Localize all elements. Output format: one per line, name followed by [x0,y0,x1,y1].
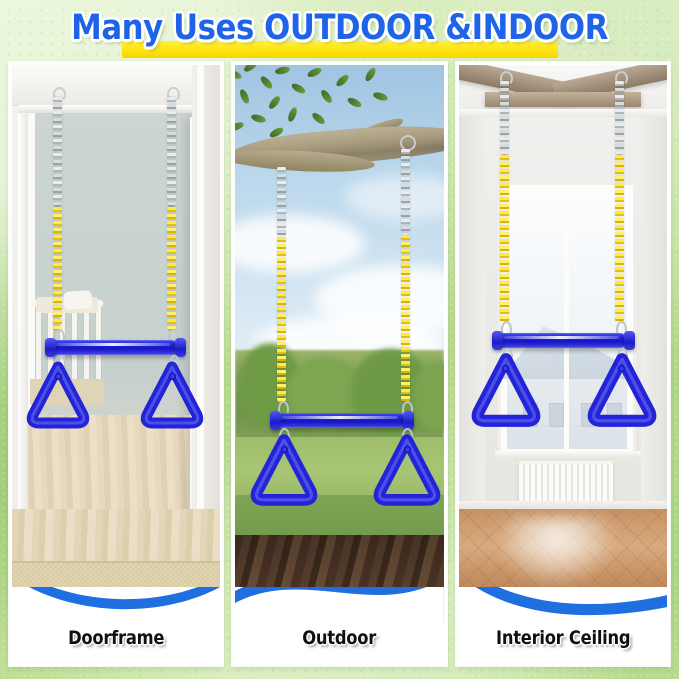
product-infographic: Many Uses OUTDOOR &INDOOR [0,0,679,679]
crib-slat [48,305,53,383]
door-lintel [18,105,218,113]
building-window [607,403,622,427]
headline-banner: Many Uses OUTDOOR &INDOOR [0,8,679,60]
crib-pillow [63,290,92,310]
leaf [335,73,351,88]
wave-divider [459,587,667,623]
leaf [275,66,291,76]
foliage [235,65,403,151]
panel-caption-outdoor: Outdoor [250,627,429,649]
crib-slat [36,305,41,383]
leaf [307,66,324,79]
crib-slat [84,305,89,383]
crib [34,305,100,420]
leaf [235,121,245,133]
door-header-trim [12,65,220,106]
scene-doorframe [12,65,220,593]
window [501,185,633,455]
window-mullion-vertical [564,191,569,449]
leaf [269,126,285,140]
deck-shading [235,535,443,593]
crib-slat [96,305,101,383]
panel-doorframe[interactable]: Doorframe [9,62,223,666]
leaf [235,68,243,80]
leaf [291,82,307,96]
leaf [373,91,389,102]
leaf [347,96,364,109]
leaf [364,66,378,82]
wall-right [641,117,667,509]
panel-row: Doorframe [0,62,679,666]
ceiling-beam-center [485,92,641,107]
scene-interior-ceiling [459,65,667,593]
floor-reflection [496,517,617,587]
building-window [549,403,564,427]
panel-outdoor[interactable]: Outdoor [232,62,446,666]
headline-text: Many Uses OUTDOOR &INDOOR [41,8,639,48]
panel-caption-interior-ceiling: Interior Ceiling [473,627,652,649]
leaf [311,111,327,126]
leaf [320,88,334,104]
cornice-trim [459,109,667,117]
tree-canopy [287,357,361,431]
crib-slat [72,305,77,383]
window-sill [495,451,641,459]
panel-caption-doorframe: Doorframe [27,627,206,649]
wave-divider [12,587,220,623]
building-window [523,403,538,427]
panel-interior-ceiling[interactable]: Interior Ceiling [456,62,670,666]
leaf [239,88,251,105]
leaf [267,94,282,110]
leaf [251,113,267,124]
caption-area-outdoor: Outdoor [235,587,443,663]
leaf [287,106,299,123]
building-window [581,403,596,427]
crib-slat [60,305,65,383]
leaf [243,65,259,74]
caption-area-doorframe: Doorframe [12,587,220,663]
crib-base [30,379,104,405]
scene-outdoor [235,65,443,593]
caption-area-interior-ceiling: Interior Ceiling [459,587,667,663]
wall-left [459,117,485,509]
window-mullion-horizontal [507,341,627,346]
wave-divider [235,587,443,623]
leaf [259,75,274,91]
